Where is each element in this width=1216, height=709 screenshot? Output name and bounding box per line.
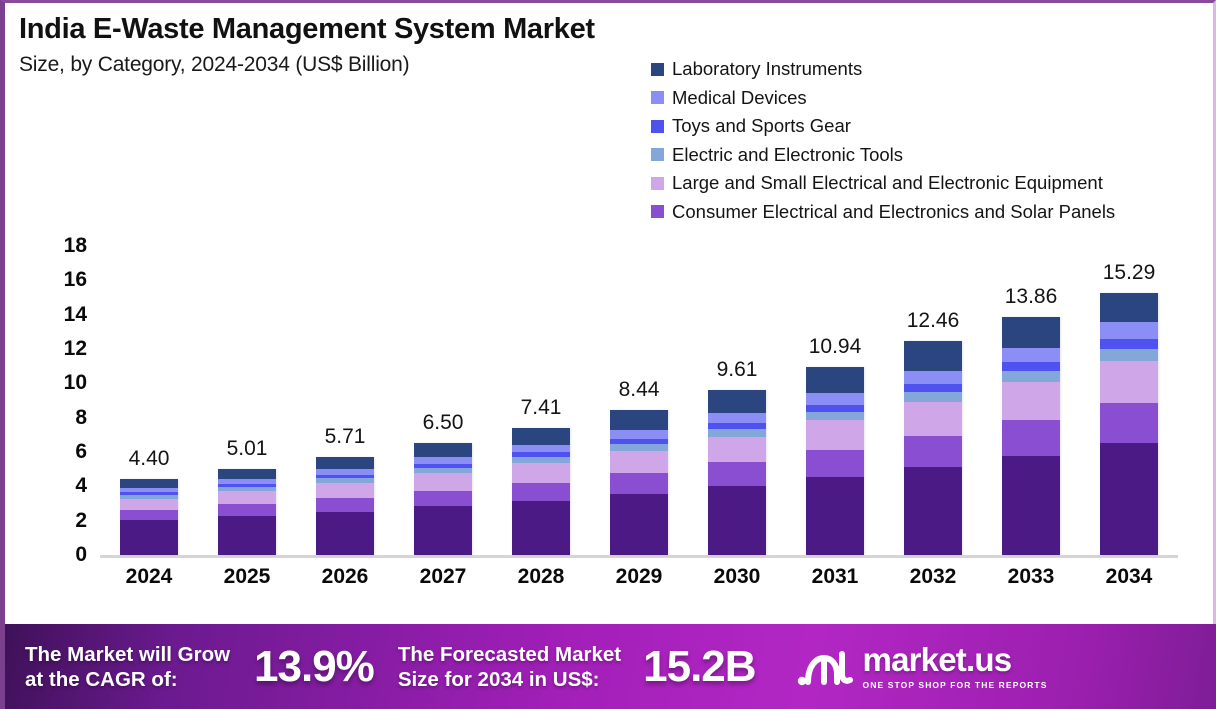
bar-segment[interactable] <box>1002 362 1060 371</box>
y-axis-tick: 2 <box>75 509 87 533</box>
bar-column[interactable]: 12.46 <box>884 231 982 555</box>
y-axis-tick: 18 <box>64 234 87 258</box>
stacked-bar[interactable] <box>316 457 374 555</box>
market-us-mark-icon <box>796 644 854 690</box>
stacked-bar[interactable] <box>806 367 864 555</box>
legend-item-label: Laboratory Instruments <box>672 59 862 79</box>
bar-segment[interactable] <box>120 479 178 487</box>
bar-segment[interactable] <box>806 477 864 555</box>
cagr-caption-line1: The Market will Grow <box>25 642 230 667</box>
bar-column[interactable]: 9.61 <box>688 231 786 555</box>
x-axis-label: 2030 <box>688 565 786 589</box>
bar-segment[interactable] <box>120 520 178 555</box>
x-axis-label: 2032 <box>884 565 982 589</box>
bar-segment[interactable] <box>904 371 962 384</box>
bar-value-label: 13.86 <box>1005 285 1058 309</box>
stacked-bar[interactable] <box>1002 317 1060 555</box>
bar-segment[interactable] <box>806 405 864 412</box>
bar-segment[interactable] <box>806 367 864 393</box>
bar-segment[interactable] <box>610 451 668 473</box>
stacked-bar[interactable] <box>708 390 766 555</box>
x-axis-label: 2025 <box>198 565 296 589</box>
stacked-bar[interactable] <box>904 341 962 555</box>
bar-value-label: 9.61 <box>717 358 758 382</box>
bar-value-label: 8.44 <box>619 378 660 402</box>
forecast-caption-line1: The Forecasted Market <box>398 642 621 667</box>
x-axis-labels: 2024202520262027202820292030203120322033… <box>100 565 1178 589</box>
bar-column[interactable]: 7.41 <box>492 231 590 555</box>
bar-segment[interactable] <box>512 483 570 501</box>
bar-value-label: 5.71 <box>325 425 366 449</box>
bar-segment[interactable] <box>218 469 276 479</box>
legend-item[interactable]: Medical Devices <box>651 88 1115 108</box>
legend-swatch-icon <box>651 148 664 161</box>
bar-value-label: 6.50 <box>423 411 464 435</box>
page-subtitle: Size, by Category, 2024-2034 (US$ Billio… <box>19 53 595 77</box>
legend-swatch-icon <box>651 177 664 190</box>
bar-segment[interactable] <box>120 510 178 520</box>
bar-segment[interactable] <box>316 457 374 469</box>
cagr-value: 13.9% <box>254 642 374 692</box>
bar-segment[interactable] <box>610 473 668 494</box>
bar-segment[interactable] <box>316 512 374 555</box>
y-axis-tick: 4 <box>75 474 87 498</box>
bar-segment[interactable] <box>708 413 766 423</box>
legend-item[interactable]: Laboratory Instruments <box>651 59 1115 79</box>
bar-segment[interactable] <box>1100 322 1158 338</box>
bar-segment[interactable] <box>806 412 864 420</box>
bar-column[interactable]: 13.86 <box>982 231 1080 555</box>
y-axis-tick: 8 <box>75 406 87 430</box>
bar-column[interactable]: 6.50 <box>394 231 492 555</box>
bar-segment[interactable] <box>1100 349 1158 361</box>
bar-value-label: 12.46 <box>907 309 960 333</box>
y-axis-tick: 10 <box>64 371 87 395</box>
cagr-caption-line2: at the CAGR of: <box>25 667 230 692</box>
bar-segment[interactable] <box>512 501 570 555</box>
bar-segment[interactable] <box>708 390 766 413</box>
chart-header: India E-Waste Management System Market S… <box>19 13 595 77</box>
legend-item[interactable]: Toys and Sports Gear <box>651 116 1115 136</box>
legend-item-label: Electric and Electronic Tools <box>672 145 903 165</box>
x-axis-label: 2029 <box>590 565 688 589</box>
bar-segment[interactable] <box>708 429 766 436</box>
bar-segment[interactable] <box>708 437 766 463</box>
legend-swatch-icon <box>651 63 664 76</box>
bar-segment[interactable] <box>1002 348 1060 363</box>
bar-segment[interactable] <box>218 491 276 504</box>
y-axis-tick: 0 <box>75 543 87 567</box>
bar-segment[interactable] <box>904 436 962 468</box>
x-axis-label: 2028 <box>492 565 590 589</box>
cagr-caption: The Market will Grow at the CAGR of: <box>25 642 230 692</box>
bar-segment[interactable] <box>512 463 570 483</box>
bar-segment[interactable] <box>414 506 472 555</box>
x-axis-label: 2033 <box>982 565 1080 589</box>
legend-item[interactable]: Large and Small Electrical and Electroni… <box>651 173 1115 193</box>
legend-swatch-icon <box>651 120 664 133</box>
bar-value-label: 10.94 <box>809 335 862 359</box>
bar-column[interactable]: 5.01 <box>198 231 296 555</box>
bar-value-label: 4.40 <box>129 447 170 471</box>
bar-column[interactable]: 8.44 <box>590 231 688 555</box>
forecast-caption: The Forecasted Market Size for 2034 in U… <box>398 642 621 692</box>
x-axis-label: 2034 <box>1080 565 1178 589</box>
bar-segment[interactable] <box>414 443 472 457</box>
bar-segment[interactable] <box>414 457 472 464</box>
stacked-bar[interactable] <box>1100 293 1158 555</box>
forecast-caption-line2: Size for 2034 in US$: <box>398 667 621 692</box>
bar-segment[interactable] <box>708 462 766 486</box>
bar-segment[interactable] <box>1002 371 1060 382</box>
bar-segment[interactable] <box>1002 420 1060 456</box>
legend-item-label: Medical Devices <box>672 88 807 108</box>
bar-segment[interactable] <box>316 483 374 498</box>
page-title: India E-Waste Management System Market <box>19 13 595 46</box>
bar-segment[interactable] <box>610 410 668 430</box>
legend-item-label: Toys and Sports Gear <box>672 116 851 136</box>
bar-segment[interactable] <box>1100 361 1158 403</box>
x-axis-label: 2031 <box>786 565 884 589</box>
y-axis-tick: 6 <box>75 440 87 464</box>
bar-column[interactable]: 15.29 <box>1080 231 1178 555</box>
bar-segment[interactable] <box>1002 456 1060 555</box>
y-axis-tick: 12 <box>64 337 87 361</box>
bar-column[interactable]: 10.94 <box>786 231 884 555</box>
legend-item-label: Consumer Electrical and Electronics and … <box>672 202 1115 222</box>
stacked-bar[interactable] <box>610 410 668 555</box>
bar-segment[interactable] <box>1100 403 1158 444</box>
bar-segment[interactable] <box>610 494 668 555</box>
logo-tagline: ONE STOP SHOP FOR THE REPORTS <box>863 680 1048 690</box>
bar-segment[interactable] <box>316 498 374 512</box>
bar-segment[interactable] <box>708 486 766 555</box>
bar-segment[interactable] <box>218 516 276 555</box>
bar-segment[interactable] <box>1100 443 1158 555</box>
bar-segment[interactable] <box>512 445 570 453</box>
bar-segment[interactable] <box>120 499 178 510</box>
bar-segment[interactable] <box>610 430 668 439</box>
bar-value-label: 15.29 <box>1103 261 1156 285</box>
bar-segment[interactable] <box>512 428 570 445</box>
bar-segment[interactable] <box>414 473 472 490</box>
y-axis: 024681012141618 <box>41 231 87 561</box>
bar-segment[interactable] <box>414 491 472 507</box>
stacked-bar[interactable] <box>512 428 570 555</box>
legend-swatch-icon <box>651 205 664 218</box>
bar-segment[interactable] <box>1100 293 1158 323</box>
bar-segment[interactable] <box>806 393 864 404</box>
bar-value-label: 5.01 <box>227 437 268 461</box>
forecast-value: 15.2B <box>643 642 755 692</box>
bar-segment[interactable] <box>806 420 864 450</box>
y-axis-tick: 14 <box>64 303 87 327</box>
bar-column[interactable]: 5.71 <box>296 231 394 555</box>
bar-segment[interactable] <box>904 402 962 436</box>
bar-segment[interactable] <box>806 450 864 477</box>
stacked-bar[interactable] <box>218 469 276 555</box>
bar-value-label: 7.41 <box>521 396 562 420</box>
stacked-bar[interactable] <box>120 479 178 555</box>
bar-group: 4.405.015.716.507.418.449.6110.9412.4613… <box>100 231 1178 555</box>
legend-item[interactable]: Electric and Electronic Tools <box>651 145 1115 165</box>
bar-column[interactable]: 4.40 <box>100 231 198 555</box>
market-us-wordmark: market.us ONE STOP SHOP FOR THE REPORTS <box>863 643 1048 690</box>
chart-legend: Laboratory InstrumentsMedical DevicesToy… <box>651 59 1115 222</box>
x-axis-label: 2026 <box>296 565 394 589</box>
legend-item[interactable]: Consumer Electrical and Electronics and … <box>651 202 1115 222</box>
x-axis-line <box>100 555 1178 558</box>
bar-segment[interactable] <box>1100 339 1158 349</box>
bar-segment[interactable] <box>904 392 962 402</box>
x-axis-label: 2024 <box>100 565 198 589</box>
bar-segment[interactable] <box>1002 382 1060 420</box>
bar-segment[interactable] <box>904 341 962 371</box>
infographic-root: India E-Waste Management System Market S… <box>0 0 1216 709</box>
bar-segment[interactable] <box>218 504 276 516</box>
x-axis-label: 2027 <box>394 565 492 589</box>
bar-segment[interactable] <box>904 467 962 555</box>
bar-segment[interactable] <box>904 384 962 392</box>
legend-item-label: Large and Small Electrical and Electroni… <box>672 173 1103 193</box>
y-axis-tick: 16 <box>64 268 87 292</box>
market-us-logo[interactable]: market.us ONE STOP SHOP FOR THE REPORTS <box>796 643 1048 690</box>
plot-area: 024681012141618 4.405.015.716.507.418.44… <box>5 231 1216 561</box>
stacked-bar[interactable] <box>414 443 472 555</box>
bar-segment[interactable] <box>1002 317 1060 348</box>
legend-swatch-icon <box>651 91 664 104</box>
summary-banner: The Market will Grow at the CAGR of: 13.… <box>5 624 1216 709</box>
logo-word: market.us <box>863 641 1012 678</box>
